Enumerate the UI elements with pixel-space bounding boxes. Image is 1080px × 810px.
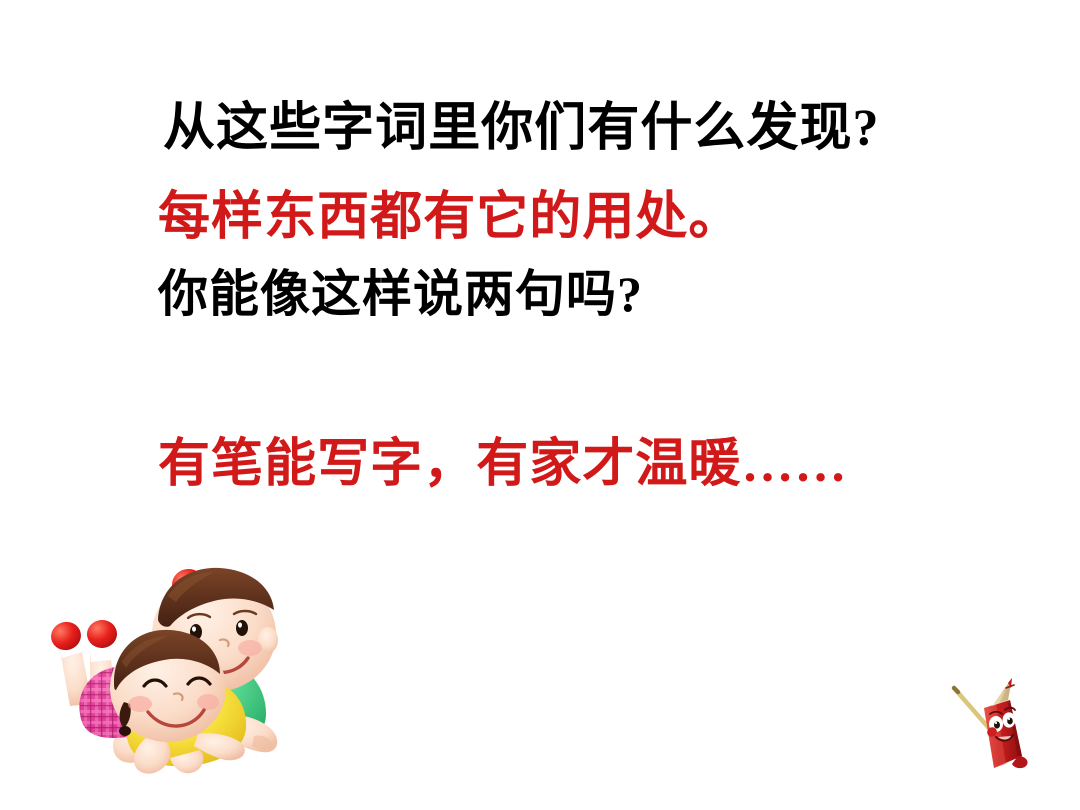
pencil-mascot-illustration [948, 664, 1034, 780]
example-sentence-highlighted: 有笔能写字，有家才温暖…… [158, 439, 848, 491]
pencil-mascot-svg [948, 664, 1034, 780]
children-illustration-svg [18, 556, 384, 778]
boy-eye-right [236, 620, 248, 636]
children-illustration [18, 556, 384, 778]
answer-line-highlighted: 每样东西都有它的用处。 [158, 192, 741, 244]
question-line-primary: 从这些字词里你们有什么发现? [163, 103, 880, 155]
slide-canvas: 从这些字词里你们有什么发现? 每样东西都有它的用处。 你能像这样说两句吗? 有笔… [0, 0, 1080, 810]
question-line-secondary: 你能像这样说两句吗? [158, 269, 643, 319]
